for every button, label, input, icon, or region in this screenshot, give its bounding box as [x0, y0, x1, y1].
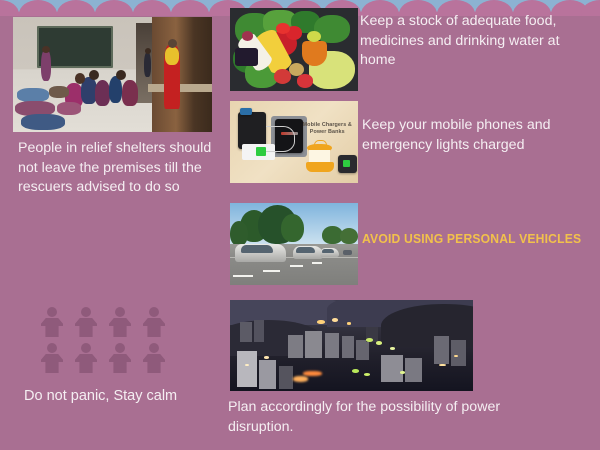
person-icon — [140, 343, 168, 373]
caption-power-disruption: Plan accordingly for the possibility of … — [228, 398, 558, 437]
night-cityscape-photo — [230, 300, 473, 391]
person-icon — [72, 307, 100, 337]
person-icon — [38, 307, 66, 337]
caption-stay-calm: Do not panic, Stay calm — [24, 387, 224, 407]
person-icon — [72, 343, 100, 373]
person-icon — [106, 307, 134, 337]
mobile-chargers-power-banks-photo: Mobile Chargers & Power Banks — [230, 101, 358, 183]
caption-relief-shelter: People in relief shelters should not lea… — [18, 139, 228, 198]
poster-canvas: People in relief shelters should not lea… — [0, 0, 600, 450]
caption-food-stock: Keep a stock of adequate food, medicines… — [360, 12, 598, 71]
power-bank-image-label: Mobile Chargers & Power Banks — [299, 122, 355, 136]
fresh-vegetables-photo — [230, 8, 358, 91]
person-icon — [106, 343, 134, 373]
people-group-icon — [38, 307, 168, 373]
cars-on-highway-photo — [230, 203, 358, 285]
person-icon — [38, 343, 66, 373]
person-icon — [140, 307, 168, 337]
caption-charge-devices: Keep your mobile phones and emergency li… — [362, 116, 598, 155]
relief-shelter-photo — [13, 17, 212, 132]
caption-avoid-vehicles: AVOID USING PERSONAL VEHICLES — [362, 229, 579, 249]
